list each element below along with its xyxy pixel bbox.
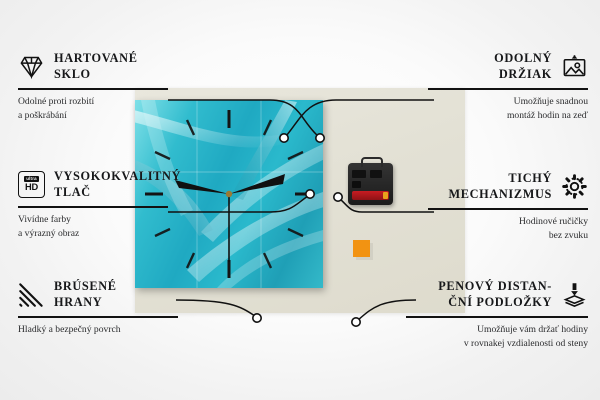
callout-dot-glass	[280, 134, 288, 142]
divider	[18, 316, 178, 318]
callout-dot-holder	[316, 134, 324, 142]
callout-description: Hladký a bezpečný povrch	[18, 323, 178, 337]
callout-dot-mechanism	[306, 190, 314, 198]
ultra-hd-icon: ultra HD	[18, 171, 45, 198]
callout-desc-line1: Odolné proti rozbití	[18, 95, 168, 109]
beveled-edge-icon	[18, 281, 45, 308]
hanging-picture-icon	[561, 53, 588, 80]
callout-description: Hodinové ručičky bez zvuku	[428, 215, 588, 243]
callout-desc-line2: a výrazný obraz	[18, 227, 168, 241]
callout-desc-line1: Hodinové ručičky	[428, 215, 588, 229]
callout-title: BRÚSENÉ HRANY	[54, 278, 117, 310]
callout-description: Vivídne farby a výrazný obraz	[18, 213, 168, 241]
callout-title: VYSOKOKVALITNÝ TLAČ	[54, 168, 181, 200]
callout-title-line1: HARTOVANÉ	[54, 50, 138, 66]
callout-title-line1: PENOVÝ DISTAN-	[438, 278, 552, 294]
callout-foam-spacers[interactable]: PENOVÝ DISTAN- ČNÍ PODLOŽKY Umožňuje vám…	[406, 278, 588, 351]
divider	[18, 88, 168, 90]
callout-title-line2: SKLO	[54, 66, 138, 82]
callout-title-line2: ČNÍ PODLOŽKY	[438, 294, 552, 310]
callout-description: Umožňuje vám držať hodiny v rovnakej vzd…	[406, 323, 588, 351]
callout-title-line2: HRANY	[54, 294, 117, 310]
callout-desc-line1: Vivídne farby	[18, 213, 168, 227]
callout-title: PENOVÝ DISTAN- ČNÍ PODLOŽKY	[438, 278, 552, 310]
divider	[18, 206, 168, 208]
callout-dot-foam	[352, 318, 360, 326]
callout-title-line1: TICHÝ	[449, 170, 552, 186]
ultra-hd-icon-main-text: HD	[25, 182, 38, 192]
callout-hd-print[interactable]: ultra HD VYSOKOKVALITNÝ TLAČ Vivídne far…	[18, 168, 168, 241]
callout-title-line1: BRÚSENÉ	[54, 278, 117, 294]
arrow-down-layers-icon	[561, 281, 588, 308]
callout-dot-print	[334, 193, 342, 201]
callout-desc-line2: v rovnakej vzdialenosti od steny	[406, 337, 588, 351]
callout-title-line2: MECHANIZMUS	[449, 186, 552, 202]
divider	[406, 316, 588, 318]
callout-desc-line1: Umožňuje vám držať hodiny	[406, 323, 588, 337]
callout-silent-mechanism[interactable]: TICHÝ MECHANIZMUS Hodinové ručičky bez z…	[428, 170, 588, 243]
callout-title: TICHÝ MECHANIZMUS	[449, 170, 552, 202]
callout-polished-edges[interactable]: BRÚSENÉ HRANY Hladký a bezpečný povrch	[18, 278, 178, 337]
callout-title-line1: VYSOKOKVALITNÝ	[54, 168, 181, 184]
callout-desc-line1: Umožňuje snadnou	[428, 95, 588, 109]
callout-title: HARTOVANÉ SKLO	[54, 50, 138, 82]
callout-desc-line2: a poškrábání	[18, 109, 168, 123]
callout-title: ODOLNÝ DRŽIAK	[494, 50, 552, 82]
callout-title-line2: DRŽIAK	[494, 66, 552, 82]
divider	[428, 208, 588, 210]
callout-dot-edges	[253, 314, 261, 322]
diamond-icon	[18, 53, 45, 80]
callout-durable-holder[interactable]: ODOLNÝ DRŽIAK Umožňuje snadnou montáž ho…	[428, 50, 588, 123]
callout-description: Umožňuje snadnou montáž hodin na zeď	[428, 95, 588, 123]
callout-title-line2: TLAČ	[54, 184, 181, 200]
callout-desc-line2: montáž hodin na zeď	[428, 109, 588, 123]
callout-desc-line2: bez zvuku	[428, 229, 588, 243]
callout-desc-line1: Hladký a bezpečný povrch	[18, 323, 178, 337]
callout-description: Odolné proti rozbití a poškrábání	[18, 95, 168, 123]
gear-icon	[561, 173, 588, 200]
infographic-canvas: HARTOVANÉ SKLO Odolné proti rozbití a po…	[0, 0, 600, 400]
divider	[428, 88, 588, 90]
callout-tempered-glass[interactable]: HARTOVANÉ SKLO Odolné proti rozbití a po…	[18, 50, 168, 123]
callout-title-line1: ODOLNÝ	[494, 50, 552, 66]
